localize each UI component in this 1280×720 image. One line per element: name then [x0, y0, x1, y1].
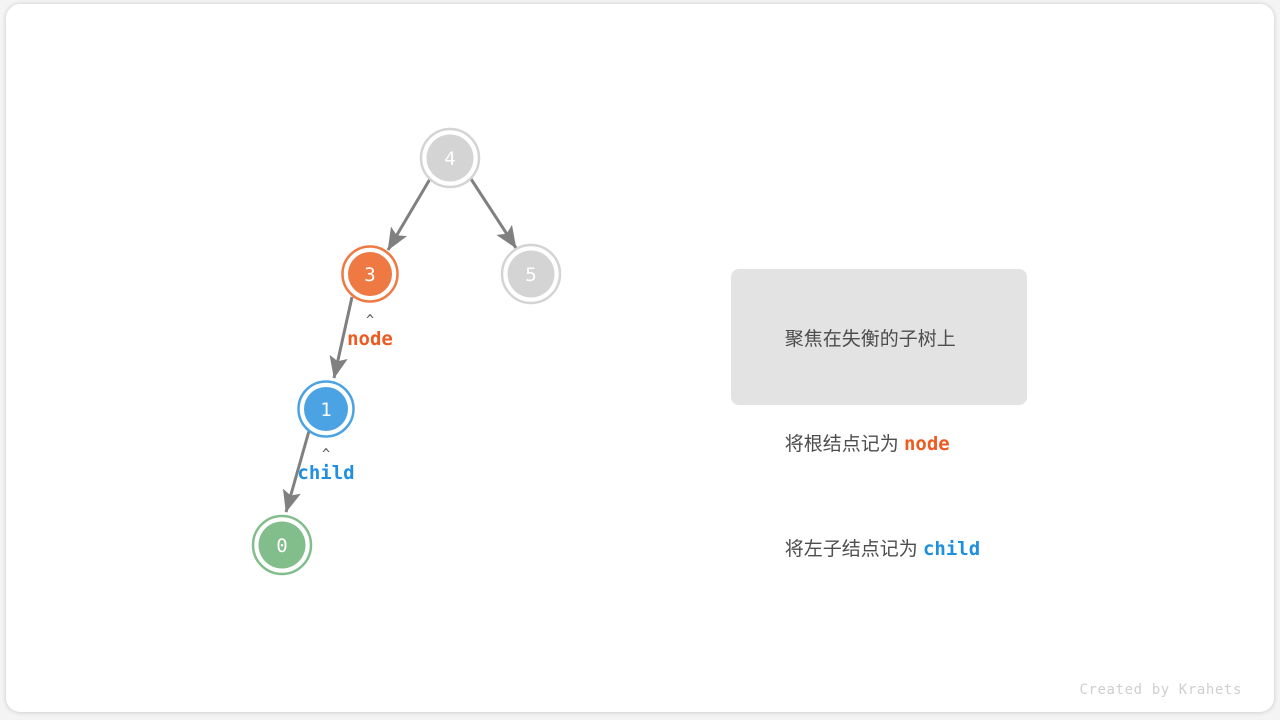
tree-node-4-value: 4 — [444, 148, 455, 170]
tree-node-0[interactable]: 0 — [253, 516, 311, 574]
caption-line-1: 聚焦在失衡的子树上 — [753, 287, 1005, 392]
caption-line-3: 将左子结点记为 child — [753, 497, 1005, 602]
tree-node-3-value: 3 — [364, 264, 375, 286]
edge-4-5 — [471, 179, 516, 248]
tree-node-1[interactable]: 1 — [299, 382, 354, 437]
caption-box: 聚焦在失衡的子树上 将根结点记为 node 将左子结点记为 child — [731, 269, 1027, 405]
tree-node-0-value: 0 — [276, 535, 287, 557]
caption-line-3-text: 将左子结点记为 — [785, 539, 923, 560]
pointer-node-caret: ^ — [366, 313, 374, 328]
diagram-stage: 4 3 5 1 0 ^ node — [0, 0, 1280, 720]
tree-node-4[interactable]: 4 — [421, 129, 479, 187]
pointer-child-label: child — [297, 462, 354, 484]
pointer-node: ^ node — [347, 313, 393, 350]
tree-node-5[interactable]: 5 — [502, 245, 560, 303]
caption-node-token: node — [904, 433, 950, 455]
caption-child-token: child — [923, 538, 980, 560]
tree-node-3[interactable]: 3 — [343, 247, 398, 302]
tree-node-1-value: 1 — [320, 399, 331, 421]
footer-credit: Created by Krahets — [1079, 682, 1242, 698]
pointer-child-caret: ^ — [322, 447, 330, 462]
tree-node-5-value: 5 — [525, 264, 536, 286]
pointer-node-label: node — [347, 328, 393, 350]
caption-line-1-text: 聚焦在失衡的子树上 — [785, 329, 956, 350]
edge-4-3 — [388, 179, 430, 250]
caption-line-2: 将根结点记为 node — [753, 392, 1005, 497]
pointer-child: ^ child — [297, 447, 354, 484]
tree-diagram-svg: 4 3 5 1 0 ^ node — [0, 0, 1280, 720]
caption-line-2-text: 将根结点记为 — [785, 434, 904, 455]
